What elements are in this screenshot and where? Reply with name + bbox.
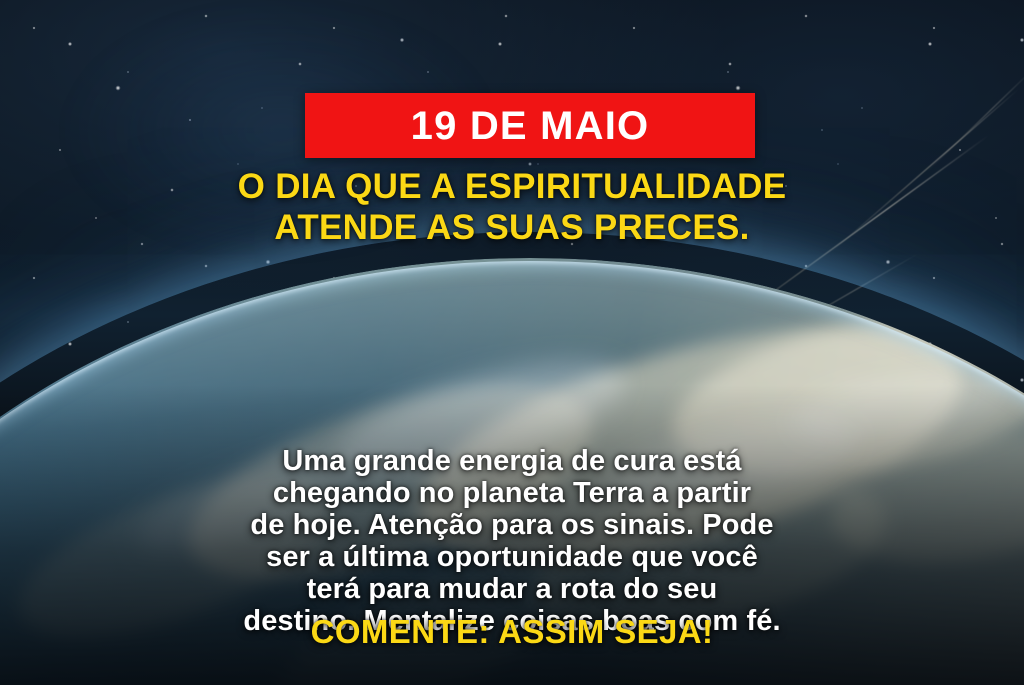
body-line-3: de hoje. Atenção para os sinais. Pode bbox=[0, 509, 1024, 541]
call-to-action-text: COMENTE: ASSIM SEJA! bbox=[0, 613, 1024, 651]
body-line-2: chegando no planeta Terra a partir bbox=[0, 477, 1024, 509]
body-paragraph: Uma grande energia de cura está chegando… bbox=[0, 445, 1024, 637]
date-banner: 19 DE MAIO bbox=[305, 93, 755, 158]
poster-canvas: 19 DE MAIO O DIA QUE A ESPIRITUALIDADE A… bbox=[0, 0, 1024, 685]
body-line-1: Uma grande energia de cura está bbox=[0, 445, 1024, 477]
body-line-4: ser a última oportunidade que você bbox=[0, 541, 1024, 573]
headline-line-2: ATENDE AS SUAS PRECES. bbox=[0, 207, 1024, 248]
date-banner-label: 19 DE MAIO bbox=[411, 106, 650, 146]
body-line-5: terá para mudar a rota do seu bbox=[0, 573, 1024, 605]
headline-line-1: O DIA QUE A ESPIRITUALIDADE bbox=[0, 166, 1024, 207]
page-title: O DIA QUE A ESPIRITUALIDADE ATENDE AS SU… bbox=[0, 166, 1024, 248]
poster-content: 19 DE MAIO O DIA QUE A ESPIRITUALIDADE A… bbox=[0, 0, 1024, 685]
